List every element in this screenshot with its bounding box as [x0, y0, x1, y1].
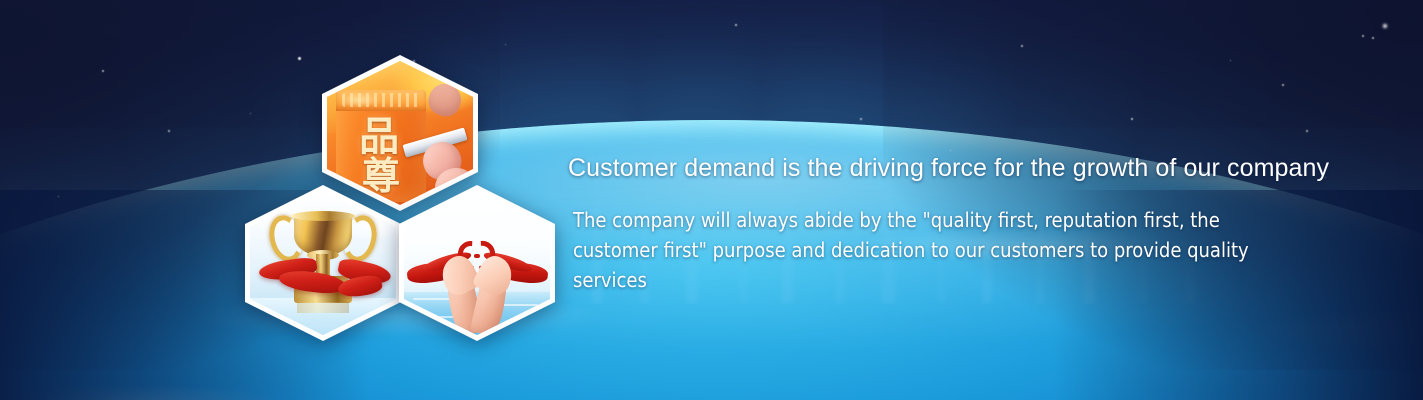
company-culture-banner: 品 尊 [0, 0, 1423, 400]
water-ripple [500, 304, 538, 306]
heart-tip [474, 254, 480, 258]
trophy-base-reflection [297, 302, 350, 314]
hexagon-service-heart[interactable] [399, 185, 555, 341]
banner-headline: Customer demand is the driving force for… [568, 152, 1328, 184]
hexagon-trophy-award[interactable] [245, 185, 401, 341]
banner-text-block: Customer demand is the driving force for… [568, 152, 1328, 295]
banner-subtext: The company will always abide by the "qu… [568, 184, 1263, 295]
